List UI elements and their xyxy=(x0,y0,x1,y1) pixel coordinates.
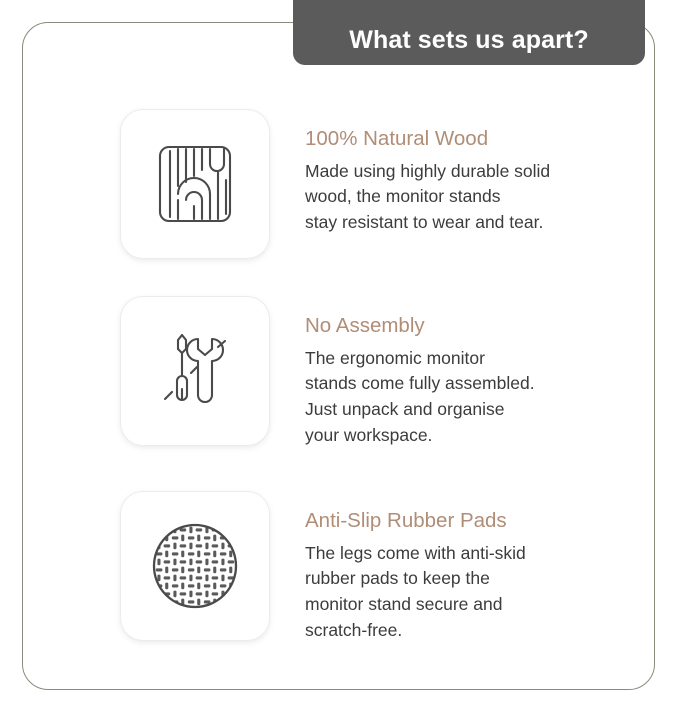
icon-tile xyxy=(121,110,269,258)
header-banner: What sets us apart? xyxy=(293,0,645,65)
icon-tile xyxy=(121,492,269,640)
feature-text: Anti-Slip Rubber Pads The legs come with… xyxy=(305,492,635,644)
wood-grain-icon xyxy=(153,142,237,226)
feature-body: The legs come with anti-skid rubber pads… xyxy=(305,541,635,645)
icon-tile xyxy=(121,297,269,445)
page-title: What sets us apart? xyxy=(349,28,588,53)
feature-item: No Assembly The ergonomic monitor stands… xyxy=(121,297,635,449)
feature-highlights-page: What sets us apart? xyxy=(0,0,679,702)
rubber-weave-circle-icon xyxy=(147,518,243,614)
screwdriver-wrench-icon xyxy=(153,329,237,413)
feature-title: 100% Natural Wood xyxy=(305,127,635,152)
feature-body: Made using highly durable solid wood, th… xyxy=(305,159,635,237)
feature-text: 100% Natural Wood Made using highly dura… xyxy=(305,110,635,236)
feature-text: No Assembly The ergonomic monitor stands… xyxy=(305,297,635,449)
feature-body: The ergonomic monitor stands come fully … xyxy=(305,346,635,450)
feature-title: Anti-Slip Rubber Pads xyxy=(305,509,635,534)
feature-title: No Assembly xyxy=(305,314,635,339)
feature-item: Anti-Slip Rubber Pads The legs come with… xyxy=(121,492,635,644)
feature-item: 100% Natural Wood Made using highly dura… xyxy=(121,110,635,258)
